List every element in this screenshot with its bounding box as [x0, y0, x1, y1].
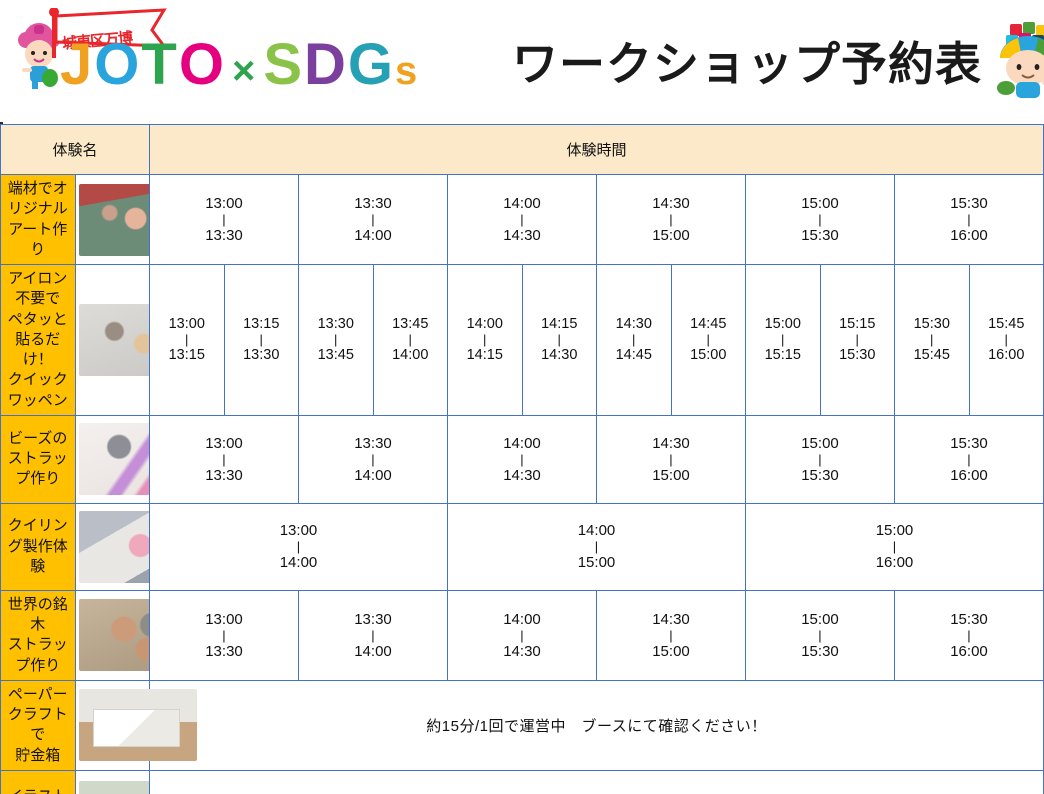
time-slot-cell[interactable]: 14:00|14:30: [448, 590, 597, 680]
time-slot-cell[interactable]: 15:00|15:15: [746, 265, 821, 416]
slot-start-time: 13:00: [150, 434, 298, 453]
experience-name-cell: クイリング製作体験: [1, 503, 76, 590]
experience-name-cell: イラスト描き方レクチャー: [1, 770, 76, 794]
time-slot-cell[interactable]: 14:30|15:00: [597, 415, 746, 503]
slot-range-separator: |: [597, 333, 671, 346]
slot-start-time: 13:15: [225, 315, 299, 334]
availability-note: 約15分/1回で運営中 ブースにて確認ください！: [150, 680, 1044, 770]
slot-start-time: 13:45: [374, 315, 448, 334]
table-row: イラスト描き方レクチャー約15分/1回で運営中 ブースにて確認ください！: [1, 770, 1044, 794]
experience-name-line-0: ビーズのストラップ作り: [7, 429, 69, 490]
slot-end-time: 13:30: [150, 226, 298, 245]
slot-start-time: 15:30: [895, 315, 969, 334]
slot-start-time: 13:30: [299, 194, 447, 213]
slot-start-time: 13:00: [150, 521, 447, 540]
slot-range-separator: |: [448, 453, 596, 466]
time-slot-cell[interactable]: 14:15|14:30: [522, 265, 597, 416]
joto-sdgs-wordmark: JOTO×SDGs: [60, 36, 419, 94]
time-slot-cell[interactable]: 13:00|13:30: [150, 175, 299, 265]
time-slot-cell[interactable]: 13:00|13:30: [150, 415, 299, 503]
slot-range-separator: |: [448, 333, 522, 346]
slot-start-time: 15:30: [895, 194, 1043, 213]
slot-end-time: 16:00: [895, 642, 1043, 661]
time-slot-cell[interactable]: 14:00|15:00: [448, 503, 746, 590]
table-row: クイリング製作体験13:00|14:0014:00|15:0015:00|16:…: [1, 503, 1044, 590]
table-row: 端材でオリジナルアート作り13:00|13:3013:30|14:0014:00…: [1, 175, 1044, 265]
header-experience-name: 体験名: [1, 125, 150, 175]
time-slot-cell[interactable]: 14:30|14:45: [597, 265, 672, 416]
time-slot-cell[interactable]: 15:00|15:30: [746, 590, 895, 680]
experience-name-line-0: クイリング製作体験: [7, 516, 69, 577]
page-header: 城東区万博 JOTO×SDGs ワークショップ予約表: [0, 0, 1044, 122]
time-slot-cell[interactable]: 14:30|15:00: [597, 590, 746, 680]
slot-start-time: 15:30: [895, 610, 1043, 629]
logo-letter-3: O: [179, 36, 226, 94]
time-slot-cell[interactable]: 14:45|15:00: [671, 265, 746, 416]
slot-range-separator: |: [746, 629, 894, 642]
time-slot-cell[interactable]: 13:30|14:00: [299, 590, 448, 680]
slot-end-time: 15:30: [746, 642, 894, 661]
slot-end-time: 15:30: [821, 346, 895, 365]
time-slot-cell[interactable]: 13:30|13:45: [299, 265, 374, 416]
experience-name-cell: アイロン不要でペタッと貼るだけ！クイックワッペン: [1, 265, 76, 416]
slot-start-time: 13:00: [150, 610, 298, 629]
table-row: ペーパークラフトで貯金箱約15分/1回で運営中 ブースにて確認ください！: [1, 680, 1044, 770]
experience-name-line-0: 世界の銘木: [7, 595, 69, 636]
slot-start-time: 14:00: [448, 315, 522, 334]
slot-range-separator: |: [299, 333, 373, 346]
slot-range-separator: |: [150, 540, 447, 553]
slot-end-time: 15:00: [597, 642, 745, 661]
slot-end-time: 15:30: [746, 226, 894, 245]
experience-name-line-0: 端材でオリジナルアート作り: [7, 179, 69, 260]
experience-name-line-0: ペーパークラフトで: [7, 685, 69, 746]
slot-end-time: 13:15: [150, 346, 224, 365]
time-slot-cell[interactable]: 13:15|13:30: [224, 265, 299, 416]
reservation-sheet-page: 城東区万博 JOTO×SDGs ワークショップ予約表: [0, 0, 1044, 794]
slot-range-separator: |: [299, 213, 447, 226]
slot-end-time: 14:15: [448, 346, 522, 365]
slot-start-time: 14:15: [523, 315, 597, 334]
time-slot-cell[interactable]: 13:45|14:00: [373, 265, 448, 416]
experience-name-cell: ビーズのストラップ作り: [1, 415, 76, 503]
slot-start-time: 14:00: [448, 521, 745, 540]
slot-start-time: 15:45: [970, 315, 1044, 334]
slot-end-time: 15:00: [597, 466, 745, 485]
slot-range-separator: |: [746, 453, 894, 466]
slot-range-separator: |: [895, 213, 1043, 226]
slot-range-separator: |: [523, 333, 597, 346]
slot-range-separator: |: [299, 629, 447, 642]
logo-letter-6: D: [304, 36, 348, 94]
experience-name-cell: 世界の銘木ストラップ作り: [1, 590, 76, 680]
slot-start-time: 15:00: [746, 194, 894, 213]
time-slot-cell[interactable]: 13:00|13:30: [150, 590, 299, 680]
time-slot-cell[interactable]: 15:30|16:00: [895, 415, 1044, 503]
slot-range-separator: |: [225, 333, 299, 346]
slot-start-time: 14:00: [448, 610, 596, 629]
time-slot-cell[interactable]: 13:00|13:15: [150, 265, 225, 416]
experience-name-cell: 端材でオリジナルアート作り: [1, 175, 76, 265]
table-row: アイロン不要でペタッと貼るだけ！クイックワッペン13:00|13:1513:15…: [1, 265, 1044, 416]
slot-range-separator: |: [374, 333, 448, 346]
workshop-schedule-table: 体験名 体験時間 端材でオリジナルアート作り13:00|13:3013:30|1…: [0, 124, 1044, 794]
slot-range-separator: |: [746, 540, 1043, 553]
slot-start-time: 13:00: [150, 194, 298, 213]
slot-range-separator: |: [597, 629, 745, 642]
slot-start-time: 14:00: [448, 194, 596, 213]
slot-start-time: 13:30: [299, 434, 447, 453]
experience-photo-cell: [75, 680, 150, 770]
slot-start-time: 15:00: [746, 610, 894, 629]
table-header-row: 体験名 体験時間: [1, 125, 1044, 175]
experience-name-line-0: イラスト描き方レクチャー: [7, 787, 69, 794]
slot-range-separator: |: [448, 213, 596, 226]
experience-name-line-1: 貯金箱: [7, 746, 69, 766]
slot-end-time: 16:00: [895, 466, 1043, 485]
slot-range-separator: |: [299, 453, 447, 466]
slot-end-time: 15:00: [448, 553, 745, 572]
time-slot-cell[interactable]: 13:30|14:00: [299, 415, 448, 503]
slot-end-time: 15:15: [746, 346, 820, 365]
slot-range-separator: |: [746, 213, 894, 226]
slot-range-separator: |: [895, 453, 1043, 466]
slot-start-time: 14:45: [672, 315, 746, 334]
time-slot-cell[interactable]: 15:30|15:45: [895, 265, 970, 416]
title-block: ワークショップ予約表: [500, 0, 1044, 122]
logo-letter-7: G: [348, 36, 395, 94]
logo-letter-1: O: [94, 36, 141, 94]
slot-end-time: 14:45: [597, 346, 671, 365]
experience-name-line-1: ペタッと貼るだけ！: [7, 310, 69, 371]
time-slot-cell[interactable]: 14:00|14:30: [448, 415, 597, 503]
slot-range-separator: |: [895, 333, 969, 346]
slot-range-separator: |: [597, 213, 745, 226]
slot-range-separator: |: [150, 629, 298, 642]
slot-end-time: 14:30: [448, 226, 596, 245]
slot-range-separator: |: [970, 333, 1044, 346]
slot-end-time: 14:30: [523, 346, 597, 365]
logo-letter-0: J: [60, 36, 94, 94]
slot-end-time: 14:00: [299, 642, 447, 661]
time-slot-cell[interactable]: 13:00|14:00: [150, 503, 448, 590]
experience-name-cell: ペーパークラフトで貯金箱: [1, 680, 76, 770]
time-slot-cell[interactable]: 14:00|14:30: [448, 175, 597, 265]
table-row: 世界の銘木ストラップ作り13:00|13:3013:30|14:0014:00|…: [1, 590, 1044, 680]
slot-start-time: 15:30: [895, 434, 1043, 453]
slot-end-time: 13:45: [299, 346, 373, 365]
time-slot-cell[interactable]: 15:00|15:30: [746, 175, 895, 265]
experience-photo-cell: [75, 503, 150, 590]
slot-start-time: 13:30: [299, 315, 373, 334]
experience-photo-cell: [75, 770, 150, 794]
slot-end-time: 14:00: [299, 466, 447, 485]
availability-note: 約15分/1回で運営中 ブースにて確認ください！: [150, 770, 1044, 794]
logo-letter-5: S: [263, 36, 304, 94]
experience-photo-cell: [75, 265, 150, 416]
slot-end-time: 13:30: [225, 346, 299, 365]
slot-range-separator: |: [448, 540, 745, 553]
logo-letter-8: s: [395, 51, 419, 91]
event-logo: 城東区万博 JOTO×SDGs: [0, 0, 500, 122]
header-experience-time: 体験時間: [150, 125, 1044, 175]
slot-range-separator: |: [150, 213, 298, 226]
experience-photo-cell: [75, 415, 150, 503]
slot-start-time: 13:00: [150, 315, 224, 334]
time-slot-cell[interactable]: 15:30|16:00: [895, 175, 1044, 265]
slot-start-time: 14:30: [597, 434, 745, 453]
slot-end-time: 16:00: [895, 226, 1043, 245]
time-slot-cell[interactable]: 14:00|14:15: [448, 265, 523, 416]
time-slot-cell[interactable]: 13:30|14:00: [299, 175, 448, 265]
table-row: ビーズのストラップ作り13:00|13:3013:30|14:0014:00|1…: [1, 415, 1044, 503]
experience-name-line-0: アイロン不要で: [7, 269, 69, 310]
slot-range-separator: |: [746, 333, 820, 346]
logo-letter-4: ×: [232, 51, 257, 91]
slot-end-time: 14:00: [150, 553, 447, 572]
time-slot-cell[interactable]: 15:45|16:00: [969, 265, 1044, 416]
slot-end-time: 16:00: [746, 553, 1043, 572]
slot-start-time: 15:00: [746, 315, 820, 334]
page-title: ワークショップ予約表: [512, 28, 982, 94]
slot-end-time: 14:00: [374, 346, 448, 365]
experience-name-line-2: クイックワッペン: [7, 370, 69, 411]
slot-range-separator: |: [895, 629, 1043, 642]
slot-range-separator: |: [821, 333, 895, 346]
slot-end-time: 14:00: [299, 226, 447, 245]
time-slot-cell[interactable]: 15:00|16:00: [746, 503, 1044, 590]
slot-start-time: 15:00: [746, 521, 1043, 540]
slot-end-time: 15:45: [895, 346, 969, 365]
table-body: 端材でオリジナルアート作り13:00|13:3013:30|14:0014:00…: [1, 175, 1044, 794]
slot-end-time: 15:30: [746, 466, 894, 485]
slot-start-time: 14:00: [448, 434, 596, 453]
slot-end-time: 14:30: [448, 466, 596, 485]
slot-range-separator: |: [672, 333, 746, 346]
slot-start-time: 14:30: [597, 194, 745, 213]
slot-end-time: 15:00: [672, 346, 746, 365]
slot-end-time: 16:00: [970, 346, 1044, 365]
experience-photo-cell: [75, 590, 150, 680]
photo-papercraft-bank: [79, 689, 197, 761]
slot-end-time: 15:00: [597, 226, 745, 245]
time-slot-cell[interactable]: 14:30|15:00: [597, 175, 746, 265]
slot-end-time: 13:30: [150, 466, 298, 485]
slot-range-separator: |: [150, 453, 298, 466]
time-slot-cell[interactable]: 15:30|16:00: [895, 590, 1044, 680]
slot-start-time: 15:00: [746, 434, 894, 453]
logo-letter-2: T: [141, 36, 178, 94]
slot-start-time: 14:30: [597, 610, 745, 629]
time-slot-cell[interactable]: 15:15|15:30: [820, 265, 895, 416]
slot-end-time: 13:30: [150, 642, 298, 661]
slot-range-separator: |: [448, 629, 596, 642]
experience-name-line-1: ストラップ作り: [7, 635, 69, 676]
joto-mascot-sdgs-icon: [988, 18, 1044, 104]
slot-range-separator: |: [597, 453, 745, 466]
slot-end-time: 14:30: [448, 642, 596, 661]
experience-photo-cell: [75, 175, 150, 265]
slot-range-separator: |: [150, 333, 224, 346]
slot-start-time: 14:30: [597, 315, 671, 334]
slot-start-time: 13:30: [299, 610, 447, 629]
slot-start-time: 15:15: [821, 315, 895, 334]
time-slot-cell[interactable]: 15:00|15:30: [746, 415, 895, 503]
